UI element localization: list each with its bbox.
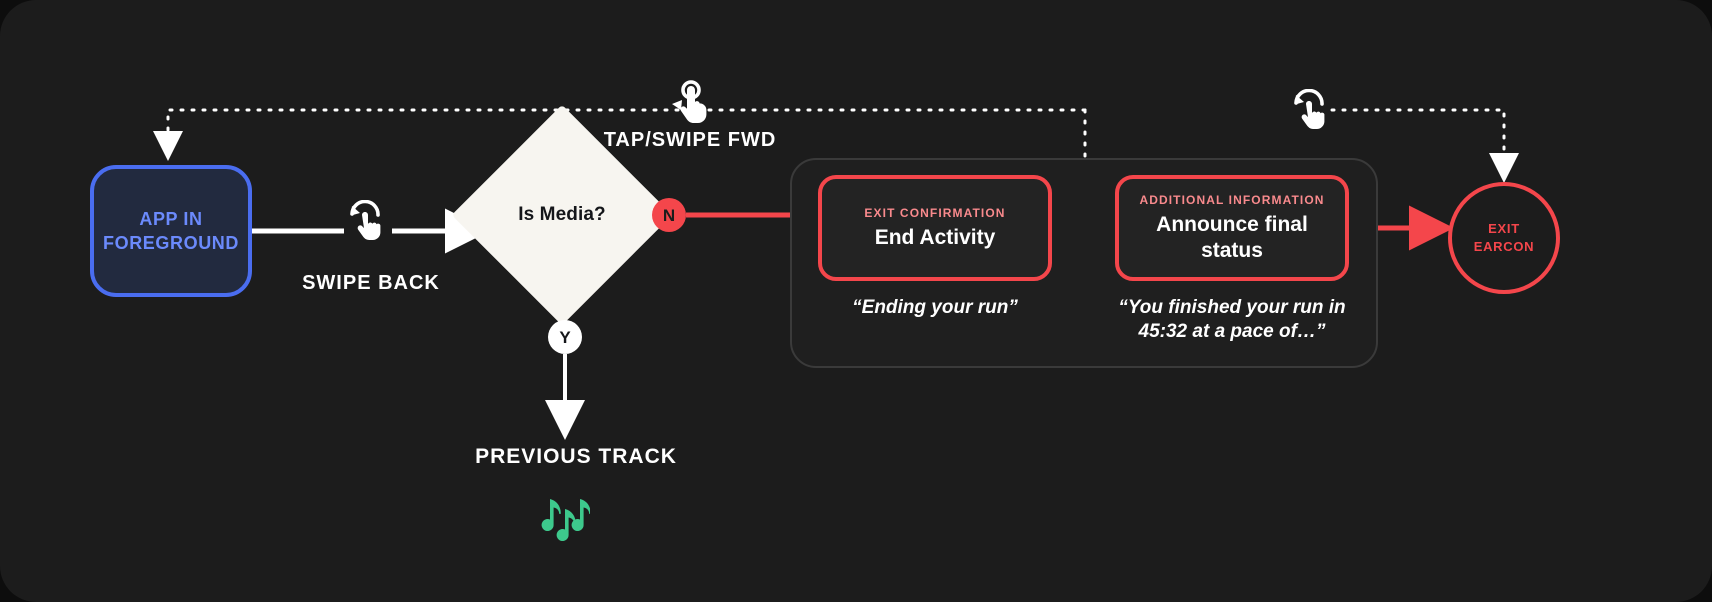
branch-badge-no: N (652, 198, 686, 232)
card-additional-information-title: Announce final status (1131, 212, 1333, 262)
caption-exit-confirmation: “Ending your run” (818, 296, 1052, 320)
exit-earcon-label-line-1: EXIT (1488, 221, 1520, 236)
branch-badge-yes: Y (548, 320, 582, 354)
card-additional-information[interactable]: ADDITIONAL INFORMATION Announce final st… (1115, 175, 1349, 281)
label-previous-track: PREVIOUS TRACK (400, 445, 752, 469)
exit-earcon-label-line-2: EARCON (1474, 239, 1535, 254)
app-node-label-line-1: APP IN (139, 209, 202, 229)
card-additional-information-kicker: ADDITIONAL INFORMATION (1139, 193, 1324, 207)
caption-additional-information: “You finished your run in 45:32 at a pac… (1108, 296, 1356, 345)
tap-gesture-icon (670, 80, 714, 128)
flow-diagram-canvas: APP IN FOREGROUND SWIPE BACK Is Media? N… (0, 0, 1712, 602)
card-exit-confirmation[interactable]: EXIT CONFIRMATION End Activity (818, 175, 1052, 281)
card-exit-confirmation-kicker: EXIT CONFIRMATION (864, 206, 1005, 220)
swipe-back-gesture-icon-secondary (1288, 89, 1332, 133)
node-decision-is-media[interactable]: Is Media? (484, 137, 640, 293)
swipe-back-gesture-icon (344, 200, 388, 244)
decision-label: Is Media? (484, 137, 640, 293)
app-node-label-line-2: FOREGROUND (103, 233, 239, 253)
label-swipe-back: SWIPE BACK (245, 272, 497, 295)
node-exit-earcon[interactable]: EXIT EARCON (1448, 182, 1560, 294)
card-exit-confirmation-title: End Activity (875, 225, 996, 250)
node-app-in-foreground[interactable]: APP IN FOREGROUND (90, 165, 252, 297)
label-tap-swipe-fwd: TAP/SWIPE FWD (575, 127, 805, 154)
music-notes-icon (534, 497, 590, 545)
